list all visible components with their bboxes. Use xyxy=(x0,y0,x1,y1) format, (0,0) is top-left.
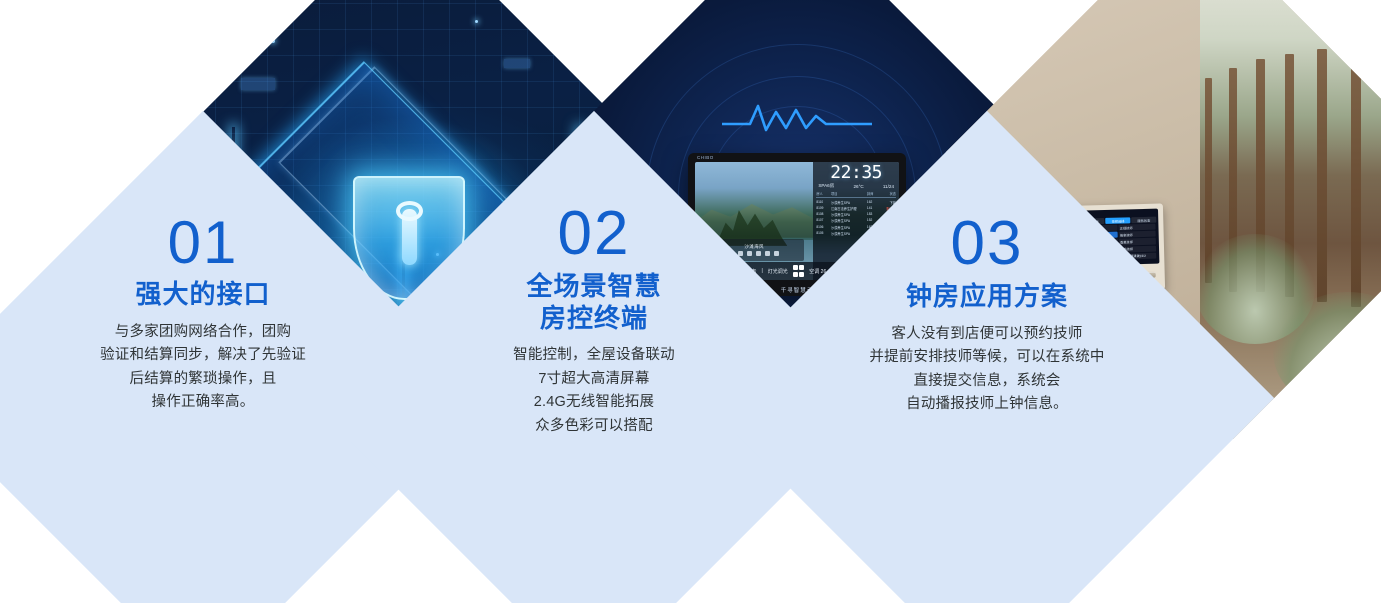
col-status: 状态 xyxy=(880,191,896,196)
tab-service-status[interactable]: 服务状态 xyxy=(1131,216,1156,223)
cell-room: 8106 xyxy=(816,225,829,230)
cell-room: 8107 xyxy=(816,218,829,223)
list-item[interactable]: 推拿技师 xyxy=(1118,231,1155,238)
col-tech: 钟师 xyxy=(867,191,878,196)
card-body: 与多家团购网络合作，团购 验证和结算同步，解决了先验证 后结算的繁琐操作，且 操… xyxy=(100,321,306,415)
cell-room: 8110 xyxy=(816,200,829,205)
divider: | xyxy=(761,268,762,274)
card-body: 客人没有到店便可以预约技师 并提前安排技师等候，可以在系统中 直接提交信息，系统… xyxy=(869,323,1104,417)
temperature-label: 26°C xyxy=(853,184,863,189)
table-header-row: 房人 项目 钟师 状态 xyxy=(816,191,896,198)
cell-room: 8105 xyxy=(816,231,829,236)
clock-display: 22:35 xyxy=(816,164,896,182)
wood-slat xyxy=(1317,49,1327,302)
cell-item: 沙漠养生SPA xyxy=(831,225,865,230)
card-title: 强大的接口 xyxy=(135,279,270,311)
screen-meta-row: SPA6房 26°C 11/24 xyxy=(816,182,896,191)
cell-tech: 141 xyxy=(867,206,878,211)
device-brand-top: CHIBO xyxy=(697,155,714,160)
chip-icon xyxy=(504,59,530,68)
cell-room: 8108 xyxy=(816,212,829,217)
infographic-stage: CHIBO 沙滩海风 xyxy=(0,0,1381,603)
date-label: 11/24 xyxy=(883,184,894,189)
play-icon[interactable] xyxy=(747,251,752,256)
playlist-icon[interactable] xyxy=(774,251,779,256)
cell-item: 沙漠养生SPA xyxy=(831,218,865,223)
cell-item: 沙漠养生SPA xyxy=(831,231,865,236)
apps-grid-icon[interactable] xyxy=(793,265,805,277)
cell-room: 8109 xyxy=(816,206,829,211)
list-item[interactable]: 香薰技师 xyxy=(1118,238,1155,245)
cell-tech: 162 xyxy=(867,200,878,205)
table-row: 8110 沙漠养生SPA 162 下钟 xyxy=(816,199,896,205)
cell-item: 沙漠养生SPA xyxy=(831,212,865,217)
chip-icon xyxy=(241,78,275,90)
pulse-wave-icon xyxy=(722,98,872,138)
next-icon[interactable] xyxy=(756,251,761,256)
now-playing-title: 沙滩海风 xyxy=(744,244,764,250)
room-label: SPA6房 xyxy=(818,183,834,189)
card-number: 03 xyxy=(951,213,1024,275)
volume-icon[interactable] xyxy=(765,251,770,256)
cell-item: 江南古法养生护理 xyxy=(831,206,865,211)
col-room: 房人 xyxy=(816,191,829,196)
wood-slat xyxy=(1351,44,1361,307)
card-body: 智能控制，全屋设备联动 7寸超大高清屏幕 2.4G无线智能拓展 众多色彩可以搭配 xyxy=(513,344,675,438)
glow-dot-icon xyxy=(475,20,478,23)
card-title: 钟房应用方案 xyxy=(906,281,1068,313)
glow-dot-icon xyxy=(271,39,275,43)
cell-item: 沙漠养生SPA xyxy=(831,200,865,205)
feature-card-03-content: 03 钟房应用方案 客人没有到店便可以预约技师 并提前安排技师等候，可以在系统中… xyxy=(784,195,1190,601)
list-item[interactable]: 正规技师 xyxy=(1118,223,1155,230)
card-number: 02 xyxy=(558,203,631,265)
key-icon xyxy=(402,209,417,265)
tab-technician-select[interactable]: 技师选择 xyxy=(1105,217,1130,224)
action-lighting[interactable]: 灯光调光 xyxy=(768,268,788,275)
table-row: 8109 江南古法养生护理 141 剩11分 xyxy=(816,205,896,211)
col-item: 项目 xyxy=(831,191,865,196)
card-number: 01 xyxy=(168,213,239,273)
cell-tech: 183 xyxy=(867,212,878,217)
card-title: 全场景智慧 房控终端 xyxy=(526,271,661,334)
